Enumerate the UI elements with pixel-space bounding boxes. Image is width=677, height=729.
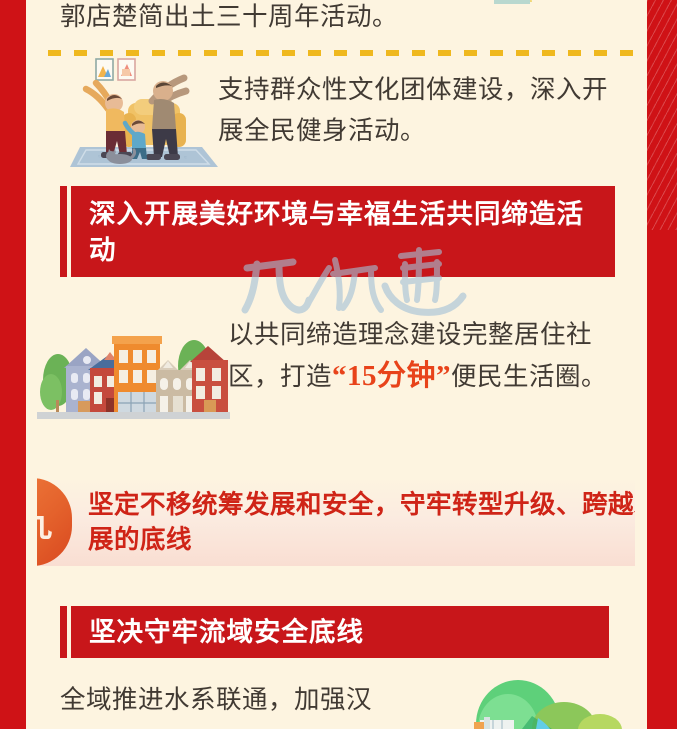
svg-text:≈: ≈ xyxy=(98,154,101,160)
fitness-paragraph: 支持群众性文化团体建设，深入开展全民健身活动。 xyxy=(218,70,628,152)
community-paragraph: 以共同缔造理念建设完整居住社区，打造“15分钟”便民生活圈。 xyxy=(228,315,628,398)
community-highlight: “15分钟” xyxy=(332,360,451,392)
family-exercise-illustration: ≈≈ ≈≈ xyxy=(66,55,228,170)
border-right xyxy=(647,0,677,729)
colorful-townhouses-illustration xyxy=(34,318,230,423)
banner-accent-bar xyxy=(60,186,67,277)
infographic-poster: 郭店楚简出土三十周年活动。 ≈≈ ≈≈ xyxy=(0,0,677,729)
safety-paragraph: 全域推进水系联通，加强汉 xyxy=(60,680,480,721)
section-title-text: 坚定不移统筹发展和安全，守牢转型升级、跨越发展的底线 xyxy=(72,478,677,566)
safety-banner-accent-bar xyxy=(60,606,67,658)
safety-banner: 坚决守牢流域安全底线 xyxy=(71,606,609,658)
paper-gap-left xyxy=(26,0,37,729)
community-banner-text: 深入开展美好环境与幸福生活共同缔造活动 xyxy=(71,196,615,268)
section-nine-band: 九 坚定不移统筹发展和安全，守牢转型升级、跨越发展的底线 xyxy=(0,478,677,566)
intro-line: 郭店楚简出土三十周年活动。 xyxy=(60,0,490,38)
community-banner: 深入开展美好环境与幸福生活共同缔造活动 xyxy=(71,186,615,277)
community-text-part2: 便民生活圈。 xyxy=(451,363,607,391)
green-hills-water-illustration xyxy=(460,672,635,729)
border-left xyxy=(0,0,26,729)
safety-banner-text: 坚决守牢流域安全底线 xyxy=(71,614,380,650)
paper-gap-right xyxy=(635,0,647,729)
svg-text:≈: ≈ xyxy=(184,155,187,161)
